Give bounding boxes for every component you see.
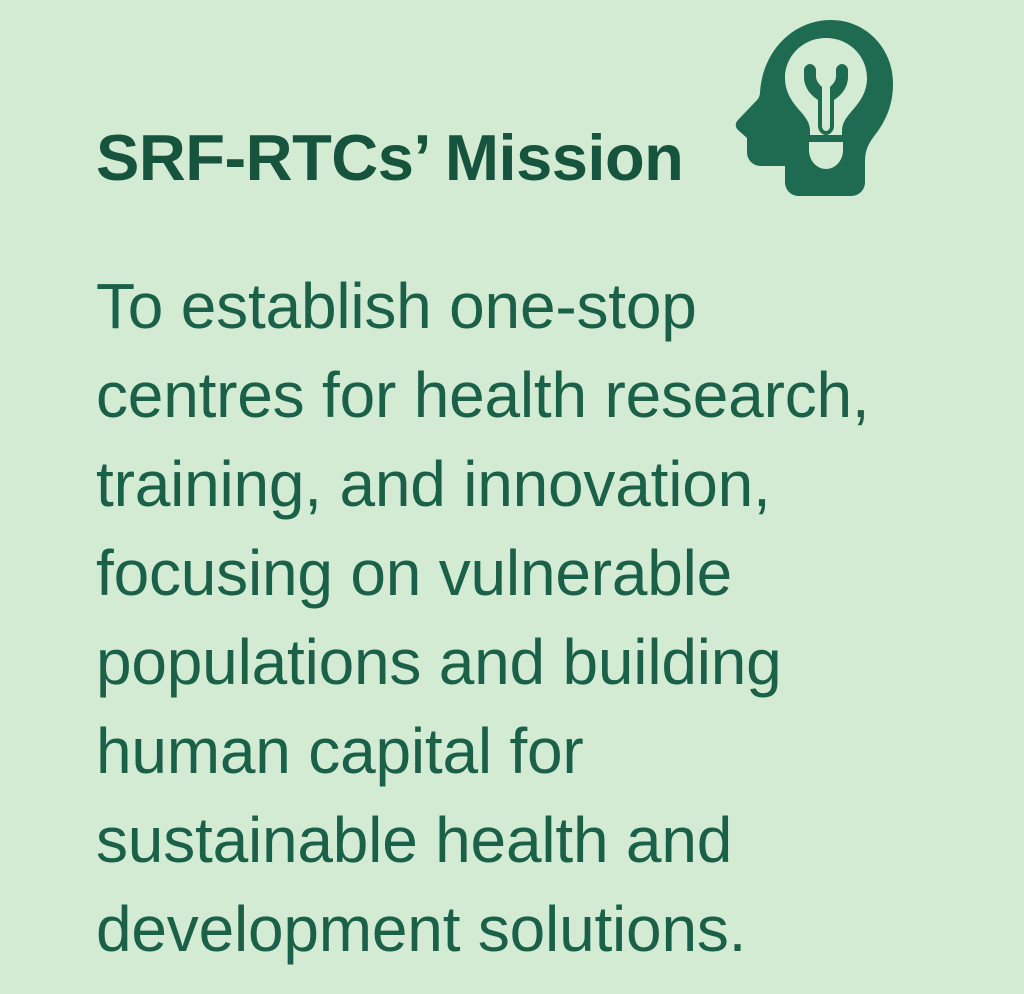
mission-statement: To establish one-stop centres for health… (96, 262, 966, 974)
mission-line: To establish one-stop (96, 262, 966, 351)
title-row: SRF-RTCs’ Mission (96, 118, 956, 202)
mission-line: sustainable health and (96, 796, 966, 885)
mission-line: development solutions. (96, 885, 966, 974)
mission-card: SRF-RTCs’ Mission To establish one-stop … (0, 0, 1024, 994)
page-title: SRF-RTCs’ Mission (96, 118, 956, 198)
mission-line: training, and innovation, (96, 440, 966, 529)
mission-line: focusing on vulnerable (96, 529, 966, 618)
mission-line: centres for health research, (96, 351, 966, 440)
mission-line: human capital for (96, 707, 966, 796)
mission-line: populations and building (96, 618, 966, 707)
